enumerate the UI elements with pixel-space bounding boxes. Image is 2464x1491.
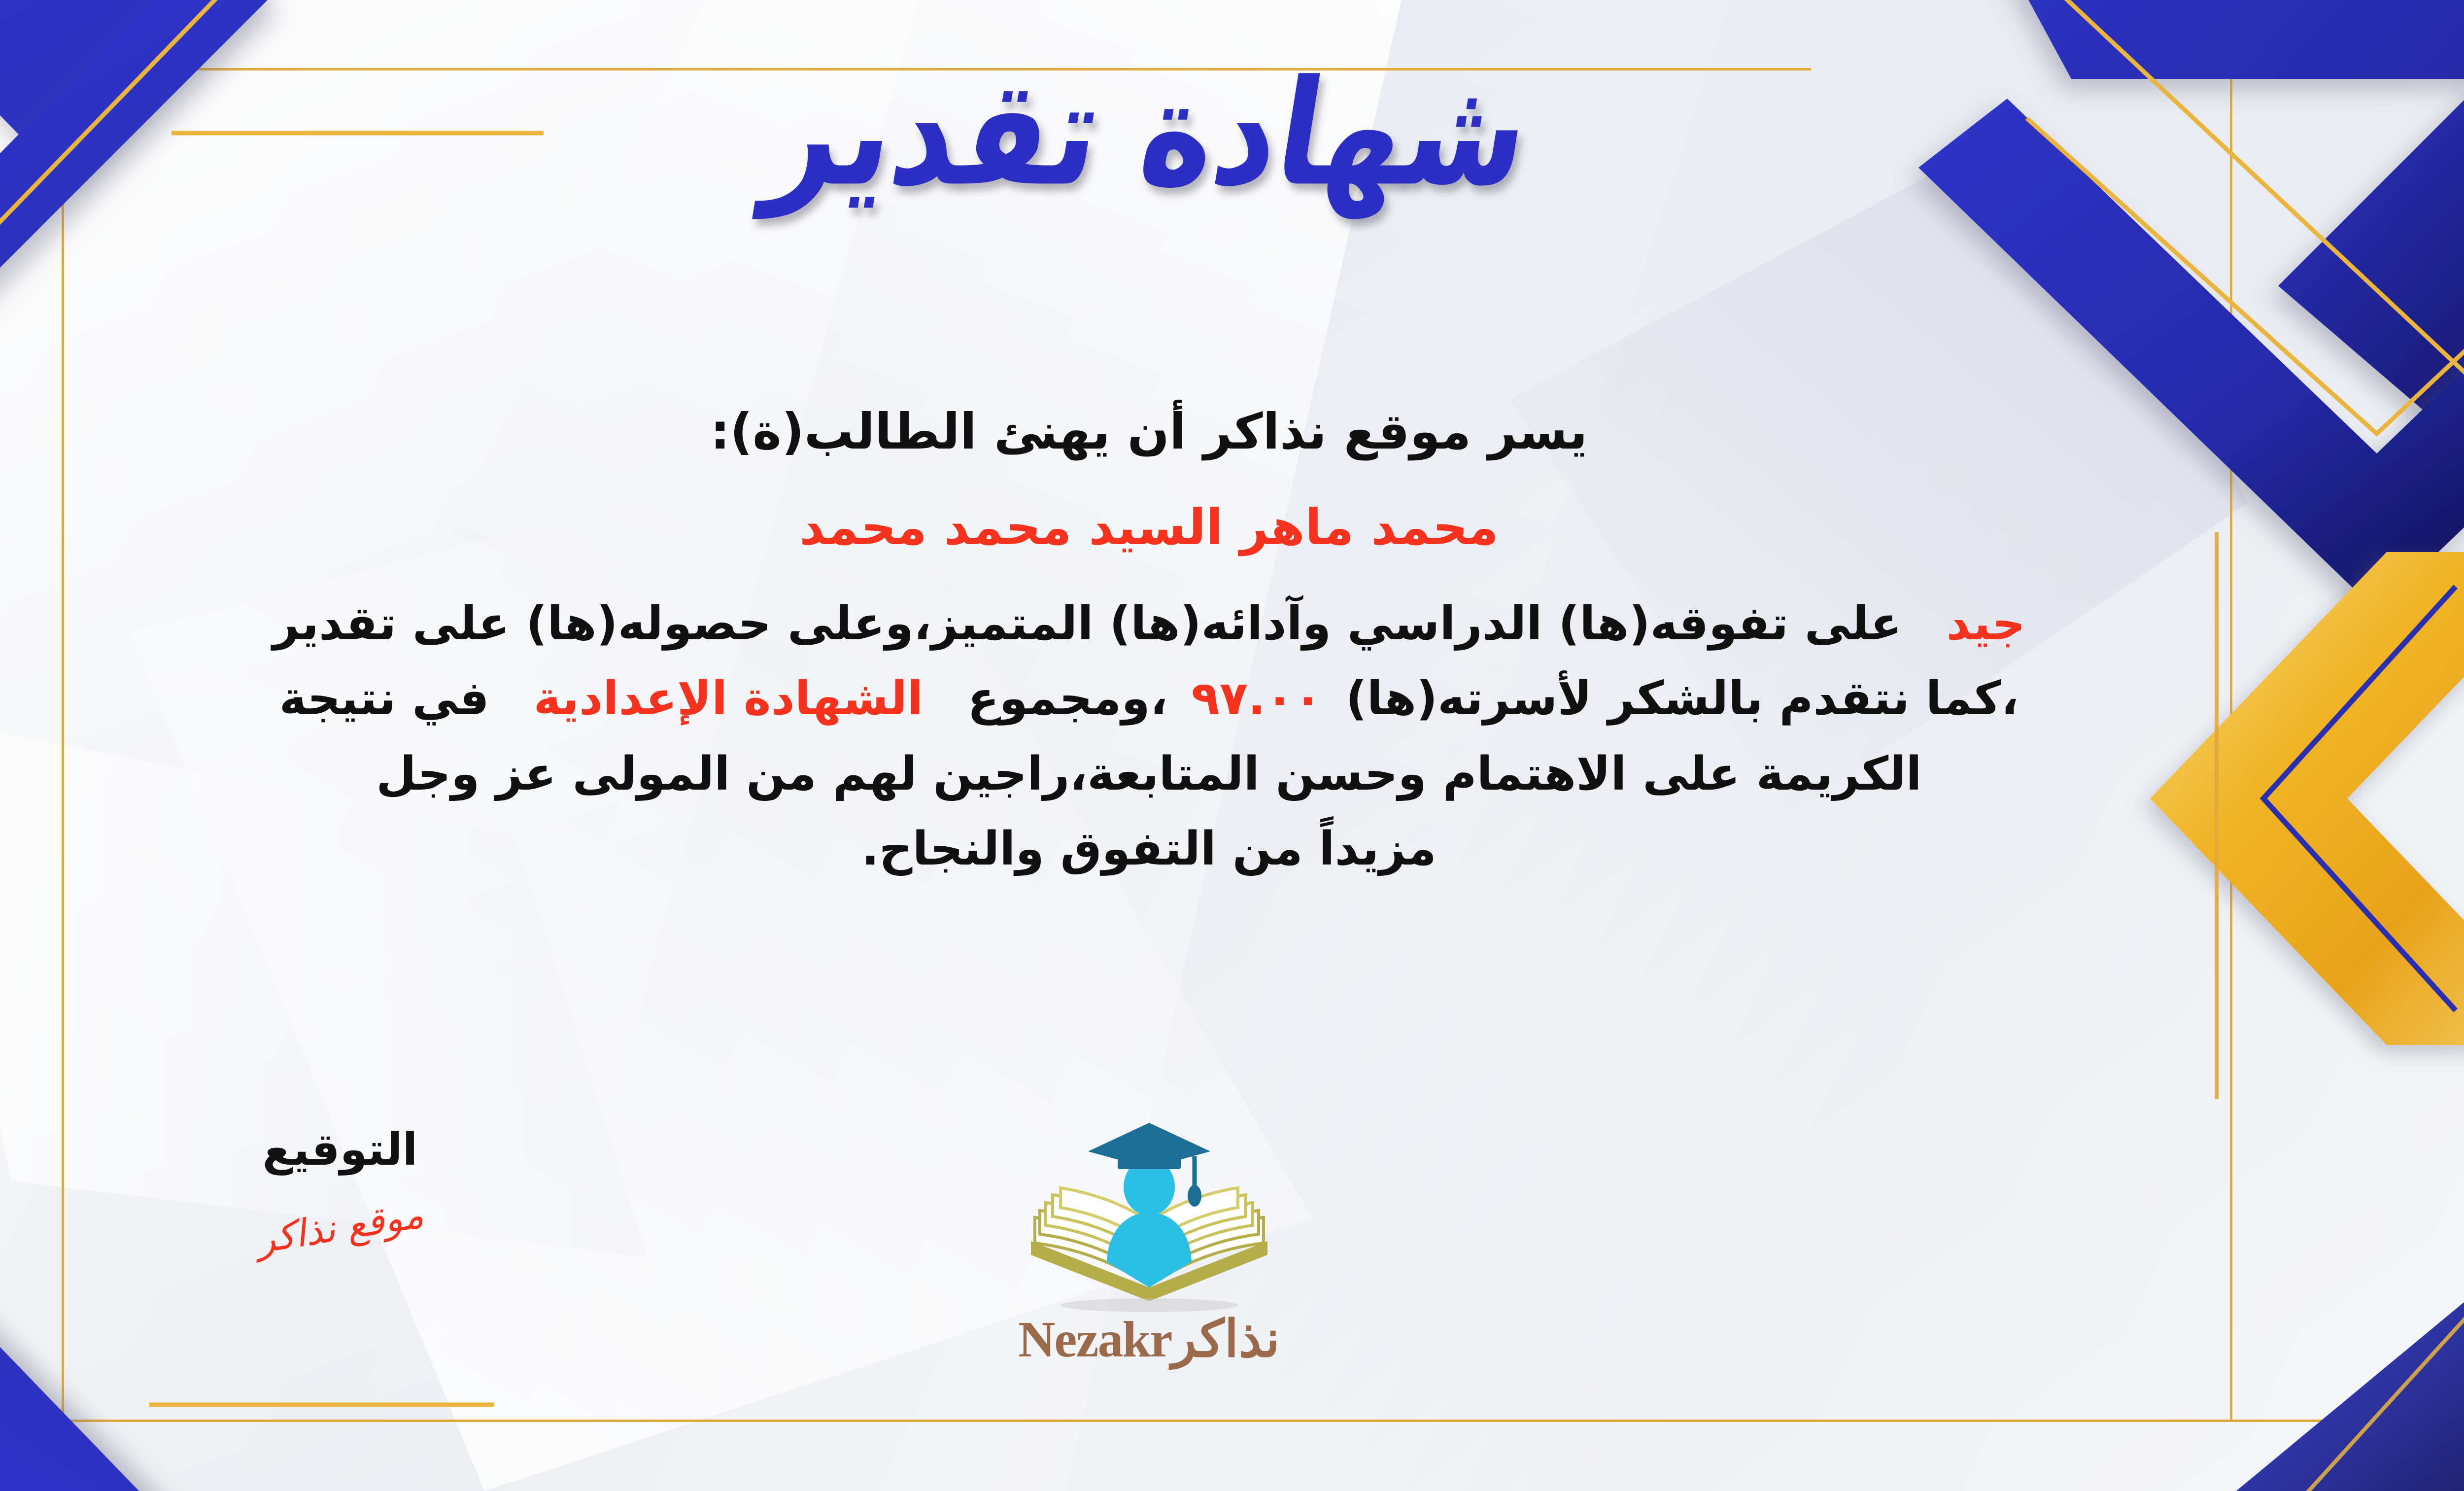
cap-tassel	[1188, 1185, 1201, 1207]
logo-wordmark: نذاكرNezakr	[1018, 1308, 1280, 1369]
cap-top	[1088, 1123, 1210, 1168]
logo-arabic: نذاكر	[1172, 1308, 1280, 1369]
gratitude-line: الكريمة على الاهتمام وحسن المتابعة،راجين…	[0, 737, 2301, 812]
total-label: ،ومجموع	[967, 672, 1167, 726]
certificate-type: الشهادة الإعدادية	[534, 672, 923, 726]
result-prefix-text: في نتيجة	[279, 672, 489, 726]
intro-line: يسر موقع نذاكر أن يهنئ الطالب(ة):	[0, 394, 2301, 469]
grade-value: جيد	[1946, 597, 2025, 651]
closing-line: مزيداً من التفوق والنجاح.	[0, 812, 2301, 887]
certificate-footer: التوقيع موقع نذاكر	[0, 1124, 2464, 1429]
total-score: ٩٧.٠٠	[1192, 672, 1322, 726]
certificate-title: شهادة تقدير	[758, 57, 1539, 210]
certificate-page: شهادة تقدير يسر موقع نذاكر أن يهنئ الطال…	[0, 0, 2464, 1491]
result-suffix-text: ،كما نتقدم بالشكر لأسرته(ها)	[1346, 672, 2019, 726]
certificate-title-wrap: شهادة تقدير	[0, 69, 2464, 199]
achievement-line: جيدعلى تفوقه(ها) الدراسي وآدائه(ها) المت…	[0, 587, 2301, 661]
achievement-text: على تفوقه(ها) الدراسي وآدائه(ها) المتميز…	[273, 597, 1902, 651]
student-name: محمد ماهر السيد محمد محمد	[0, 490, 2301, 565]
certificate-body: يسر موقع نذاكر أن يهنئ الطالب(ة): محمد م…	[0, 394, 2301, 887]
site-logo: نذاكرNezakr	[0, 1114, 2464, 1369]
result-line: ،كما نتقدم بالشكر لأسرته(ها)٩٧.٠٠،ومجموع…	[0, 661, 2301, 736]
graduation-book-logo-icon	[1011, 1114, 1287, 1321]
logo-latin: Nezakr	[1018, 1311, 1171, 1368]
